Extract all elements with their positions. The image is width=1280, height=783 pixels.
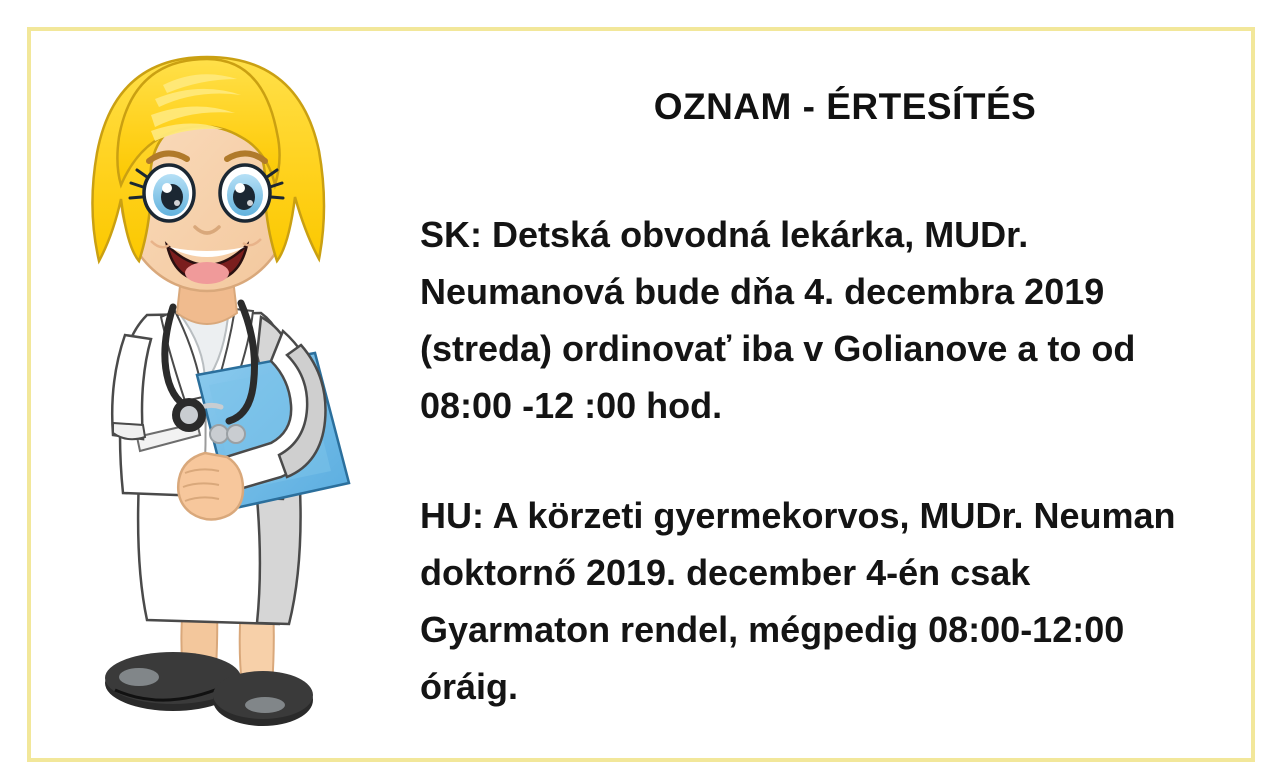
doctor-illustration (55, 45, 405, 735)
notice-line: HU: A körzeti gyermekorvos, MUDr. Neuman (420, 487, 1250, 544)
notice-line: Neumanová bude dňa 4. decembra 2019 (420, 263, 1250, 320)
notice-paragraph-sk: SK: Detská obvodná lekárka, MUDr. Neuman… (420, 206, 1250, 434)
notice-line: doktornő 2019. december 4-én csak (420, 544, 1250, 601)
notice-line: óráig. (420, 658, 1250, 715)
shoes-group (105, 652, 313, 726)
notice-text-column: OZNAM - ÉRTESÍTÉS SK: Detská obvodná lek… (420, 86, 1250, 715)
notice-paragraph-hu: HU: A körzeti gyermekorvos, MUDr. Neuman… (420, 487, 1250, 715)
poster-canvas: OZNAM - ÉRTESÍTÉS SK: Detská obvodná lek… (0, 0, 1280, 783)
notice-line: SK: Detská obvodná lekárka, MUDr. (420, 206, 1250, 263)
notice-line: 08:00 -12 :00 hod. (420, 377, 1250, 434)
head-group (92, 57, 324, 291)
notice-line: (streda) ordinovať iba v Golianove a to … (420, 320, 1250, 377)
notice-line: Gyarmaton rendel, mégpedig 08:00-12:00 (420, 601, 1250, 658)
page-title: OZNAM - ÉRTESÍTÉS (530, 86, 1160, 128)
